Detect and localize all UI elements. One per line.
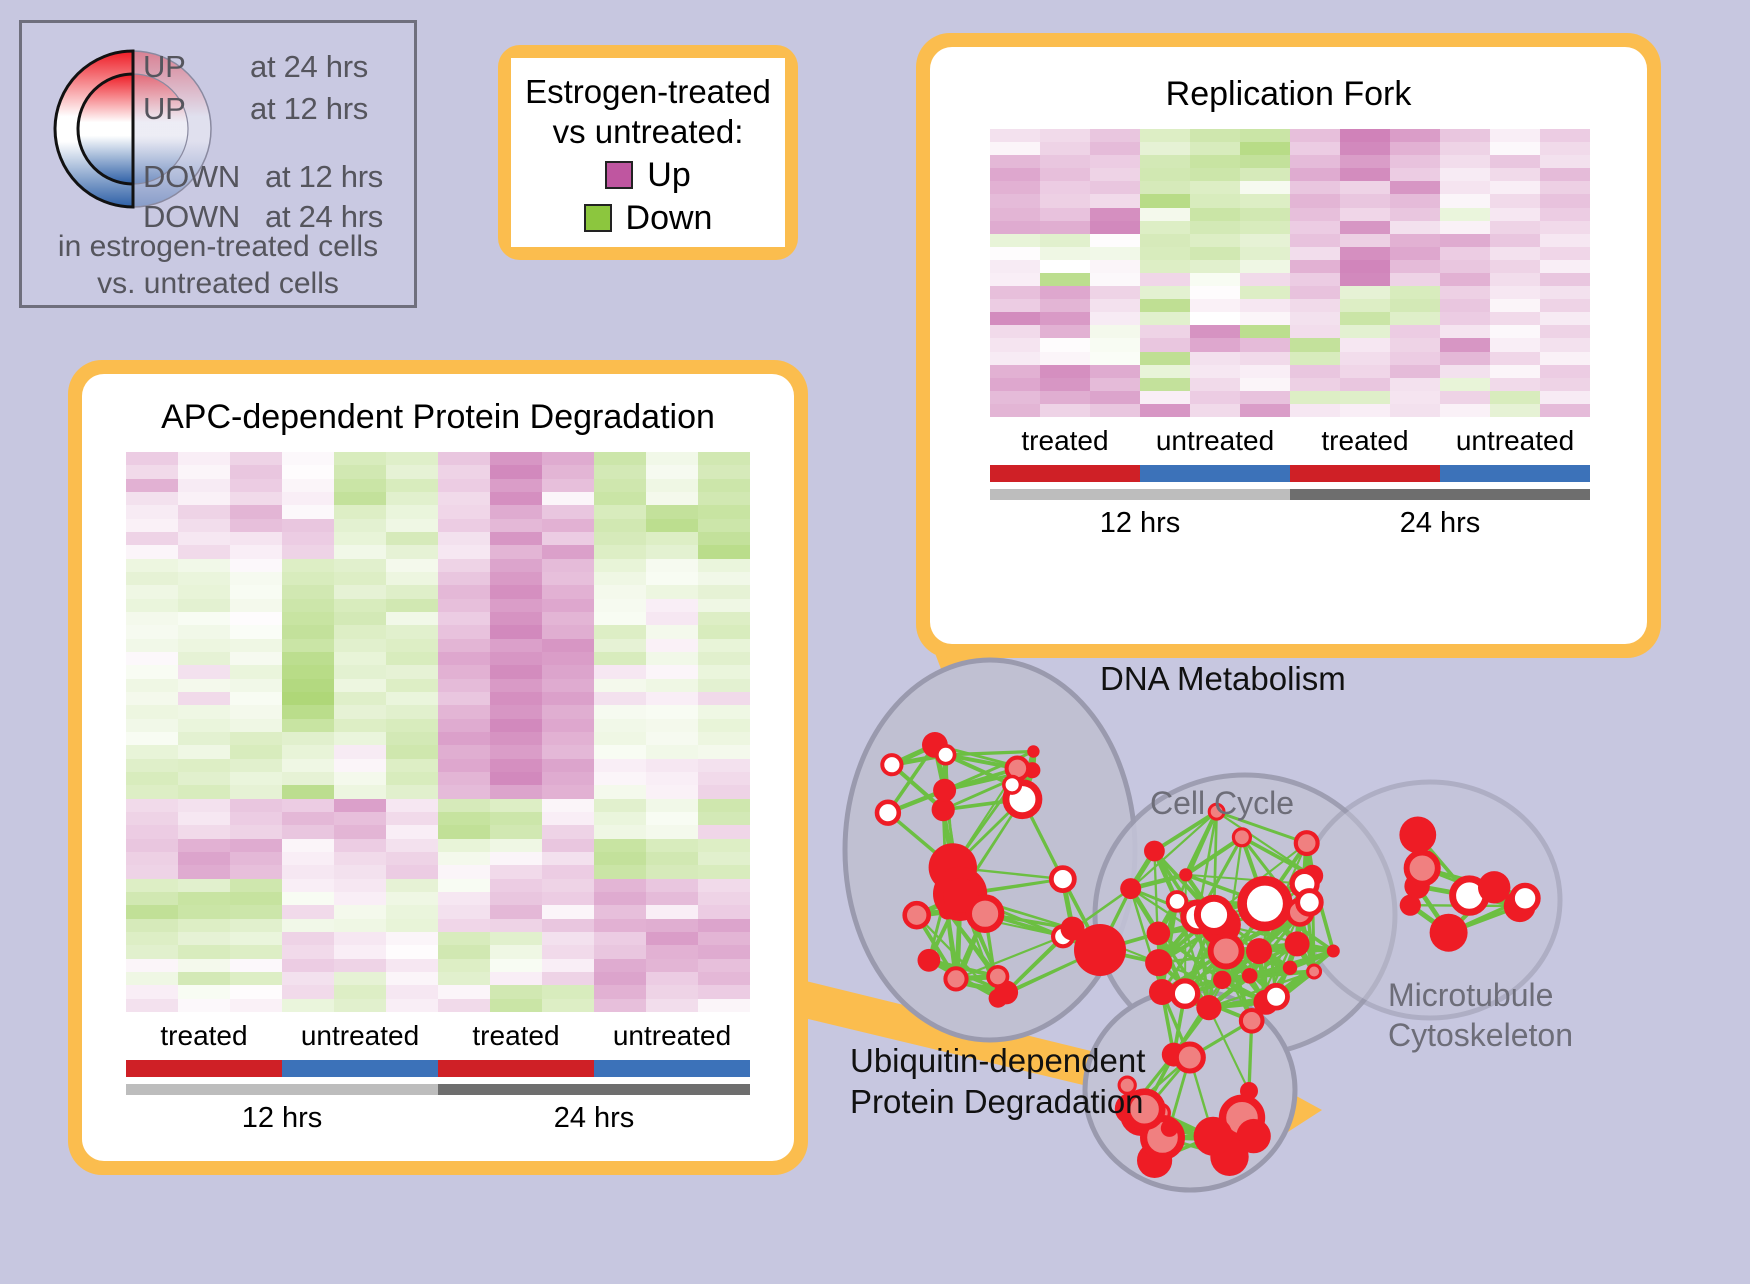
heatmap-cell [1490,208,1540,221]
heatmap-cell [334,639,386,652]
heatmap-cell [646,652,698,665]
heatmap-cell [1290,194,1340,207]
heatmap-cell [126,692,178,705]
heatmap-cell [1090,194,1140,207]
heatmap-cell [230,719,282,732]
updown-legend-inner: Estrogen-treated vs untreated: Up Down [511,58,785,247]
heatmap-cell [230,999,282,1012]
heatmap-cell [334,799,386,812]
heatmap-cell [646,959,698,972]
heatmap-cell [230,945,282,958]
heatmap-cell [1540,208,1590,221]
heatmap-cell [386,505,438,518]
heatmap-cell [438,545,490,558]
heatmap-cell [1390,194,1440,207]
heatmap-cell [698,452,750,465]
heatmap-cell [438,865,490,878]
heatmap-cell [594,612,646,625]
heatmap-cell [126,799,178,812]
heatmap-apc-degradation [126,452,750,1012]
heatmap-cell [1290,129,1340,142]
heatmap-cell [594,545,646,558]
heatmap-cell [282,919,334,932]
key-row-2-time: at 12 hrs [265,159,383,195]
heatmap-cell [438,559,490,572]
heatmap-cell [178,825,230,838]
heatmap-cell [1090,299,1140,312]
heatmap-cell [490,745,542,758]
heatmap-cell [334,812,386,825]
heatmap-cell [1540,299,1590,312]
heatmap-cell [990,391,1040,404]
heatmap-cell [1390,168,1440,181]
heatmap-cell [386,959,438,972]
heatmap-cell [1290,325,1340,338]
heatmap-cell [282,812,334,825]
group-label-untreated-24: untreated [1440,425,1590,457]
heatmap-cell [1190,286,1240,299]
heatmap-cell [1540,391,1590,404]
heatmap-cell [698,465,750,478]
heatmap-cell [698,919,750,932]
heatmap-cell [178,985,230,998]
heatmap-cell [1140,404,1190,417]
heatmap-cell [490,479,542,492]
heatmap-cell [1440,194,1490,207]
heatmap-cell [542,985,594,998]
replication-fork-time-labels: 12 hrs 24 hrs [990,507,1590,540]
heatmap-cell [282,465,334,478]
heatmap-cell [386,812,438,825]
heatmap-cell [698,505,750,518]
heatmap-cell [1390,273,1440,286]
heatmap-cell [1290,155,1340,168]
heatmap-cell [1340,299,1390,312]
heatmap-cell [1490,221,1540,234]
heatmap-cell [438,692,490,705]
bar-treated-24 [1290,465,1440,482]
heatmap-cell [1240,352,1290,365]
heatmap-cell [282,732,334,745]
heatmap-cell [490,679,542,692]
heatmap-cell [178,892,230,905]
heatmap-cell [1390,260,1440,273]
heatmap-cell [698,572,750,585]
heatmap-cell [1140,208,1190,221]
heatmap-cell [178,665,230,678]
heatmap-cell [1240,286,1290,299]
microtubule-label-line2: Cytoskeleton [1388,1015,1573,1055]
heatmap-cell [542,919,594,932]
heatmap-cell [1140,338,1190,351]
heatmap-cell [1290,273,1340,286]
heatmap-cell [126,865,178,878]
heatmap-cell [1090,365,1140,378]
heatmap-cell [1090,234,1140,247]
heatmap-cell [230,572,282,585]
heatmap-cell [438,799,490,812]
heatmap-cell [1190,378,1240,391]
heatmap-cell [1290,142,1340,155]
heatmap-cell [438,532,490,545]
heatmap-cell [490,999,542,1012]
heatmap-cell [178,625,230,638]
heatmap-cell [438,745,490,758]
heatmap-cell [542,999,594,1012]
heatmap-cell [438,732,490,745]
heatmap-cell [698,532,750,545]
heatmap-cell [178,505,230,518]
heatmap-cell [594,625,646,638]
heatmap-cell [1240,260,1290,273]
heatmap-cell [1340,221,1390,234]
heatmap-cell [594,745,646,758]
heatmap-cell [282,612,334,625]
network-svg [790,600,1750,1279]
heatmap-cell [126,959,178,972]
legend-label-down: Down [626,199,713,238]
heatmap-cell [490,652,542,665]
heatmap-cell [1340,286,1390,299]
heatmap-cell [178,692,230,705]
heatmap-cell [594,932,646,945]
heatmap-cell [386,692,438,705]
heatmap-cell [1140,312,1190,325]
heatmap-cell [230,452,282,465]
heatmap-cell [646,919,698,932]
heatmap-cell [1340,325,1390,338]
panel-apc-title: APC-dependent Protein Degradation [82,398,794,437]
heatmap-cell [1040,299,1090,312]
heatmap-cell [990,194,1040,207]
heatmap-cell [542,932,594,945]
heatmap-cell [698,959,750,972]
apc-bar-treated-12 [126,1060,282,1077]
heatmap-cell [490,799,542,812]
heatmap-cell [698,692,750,705]
heatmap-cell [1140,325,1190,338]
heatmap-cell [1040,286,1090,299]
heatmap-cell [334,559,386,572]
heatmap-cell [698,559,750,572]
heatmap-cell [594,719,646,732]
heatmap-cell [178,545,230,558]
heatmap-cell [594,999,646,1012]
heatmap-cell [542,492,594,505]
heatmap-cell [230,479,282,492]
heatmap-cell [1290,352,1340,365]
heatmap-cell [542,705,594,718]
heatmap-cell [646,759,698,772]
heatmap-replication-fork [990,129,1590,417]
heatmap-cell [282,559,334,572]
heatmap-cell [542,972,594,985]
apc-group-label-untreated-24: untreated [594,1020,750,1052]
heatmap-cell [542,812,594,825]
heatmap-cell [1440,247,1490,260]
heatmap-cell [1040,365,1090,378]
heatmap-cell [126,985,178,998]
heatmap-cell [178,732,230,745]
heatmap-cell [990,168,1040,181]
heatmap-cell [1090,273,1140,286]
heatmap-cell [646,799,698,812]
heatmap-cell [386,652,438,665]
heatmap-cell [1440,325,1490,338]
legend-label-up: Up [647,156,690,195]
heatmap-cell [334,999,386,1012]
heatmap-cell [990,234,1040,247]
heatmap-cell [698,679,750,692]
heatmap-cell [386,572,438,585]
heatmap-cell [1540,181,1590,194]
heatmap-cell [1190,391,1240,404]
group-label-treated-12: treated [990,425,1140,457]
heatmap-cell [334,745,386,758]
heatmap-cell [1390,208,1440,221]
heatmap-cell [1240,404,1290,417]
heatmap-cell [1040,338,1090,351]
updown-legend-title-line1: Estrogen-treated [525,72,771,112]
heatmap-cell [386,972,438,985]
heatmap-cell [1040,352,1090,365]
heatmap-cell [178,532,230,545]
heatmap-cell [282,985,334,998]
heatmap-cell [594,759,646,772]
heatmap-cell [178,705,230,718]
heatmap-cell [1090,168,1140,181]
heatmap-cell [126,492,178,505]
heatmap-cell [1190,194,1240,207]
heatmap-cell [1290,378,1340,391]
heatmap-cell [386,879,438,892]
heatmap-cell [126,479,178,492]
heatmap-cell [490,972,542,985]
heatmap-cell [698,652,750,665]
heatmap-cell [178,972,230,985]
heatmap-cell [386,625,438,638]
heatmap-cell [698,492,750,505]
heatmap-cell [126,665,178,678]
heatmap-cell [542,865,594,878]
heatmap-cell [990,338,1040,351]
heatmap-cell [1390,325,1440,338]
heatmap-cell [386,945,438,958]
heatmap-cell [334,599,386,612]
heatmap-cell [178,479,230,492]
heatmap-cell [646,625,698,638]
heatmap-cell [646,452,698,465]
heatmap-cell [646,532,698,545]
heatmap-cell [646,705,698,718]
panel-replication-fork-title: Replication Fork [930,75,1647,114]
heatmap-cell [282,652,334,665]
heatmap-cell [594,679,646,692]
heatmap-cell [282,519,334,532]
heatmap-cell [386,665,438,678]
heatmap-cell [698,759,750,772]
heatmap-cell [646,732,698,745]
heatmap-cell [1290,286,1340,299]
heatmap-cell [126,772,178,785]
heatmap-cell [438,839,490,852]
group-label-treated-24: treated [1290,425,1440,457]
heatmap-cell [698,825,750,838]
heatmap-cell [438,772,490,785]
heatmap-cell [646,852,698,865]
heatmap-cell [990,142,1040,155]
heatmap-cell [438,879,490,892]
heatmap-cell [646,772,698,785]
heatmap-cell [230,545,282,558]
heatmap-cell [990,221,1040,234]
heatmap-cell [334,932,386,945]
heatmap-cell [282,879,334,892]
heatmap-cell [542,625,594,638]
heatmap-cell [1490,352,1540,365]
heatmap-cell [438,479,490,492]
heatmap-cell [542,879,594,892]
heatmap-cell [282,585,334,598]
heatmap-cell [126,719,178,732]
heatmap-cell [542,799,594,812]
heatmap-cell [490,932,542,945]
heatmap-cell [230,652,282,665]
heatmap-cell [438,492,490,505]
heatmap-cell [386,599,438,612]
heatmap-cell [334,825,386,838]
heatmap-cell [990,273,1040,286]
heatmap-cell [594,532,646,545]
heatmap-cell [594,799,646,812]
heatmap-cell [1040,391,1090,404]
heatmap-cell [698,585,750,598]
apc-time-bar-12hrs [126,1084,438,1095]
heatmap-cell [178,719,230,732]
heatmap-cell [1490,155,1540,168]
heatmap-cell [1540,365,1590,378]
heatmap-cell [490,625,542,638]
heatmap-cell [698,479,750,492]
heatmap-cell [698,519,750,532]
heatmap-cell [334,505,386,518]
heatmap-cell [1540,247,1590,260]
heatmap-cell [386,705,438,718]
legend-item-down: Down [584,199,713,238]
heatmap-cell [334,879,386,892]
heatmap-cell [386,852,438,865]
heatmap-cell [438,852,490,865]
heatmap-cell [542,785,594,798]
heatmap-cell [1190,260,1240,273]
heatmap-cell [1340,129,1390,142]
network-diagram: DNA Metabolism Cell Cycle Microtubule Cy… [790,600,1750,1279]
key-row-1-time: at 12 hrs [250,91,368,127]
heatmap-cell [1140,286,1190,299]
heatmap-cell [542,612,594,625]
heatmap-cell [1040,142,1090,155]
heatmap-cell [594,692,646,705]
heatmap-cell [386,545,438,558]
heatmap-cell [178,785,230,798]
heatmap-cell [646,812,698,825]
heatmap-cell [1440,221,1490,234]
heatmap-cell [178,639,230,652]
heatmap-cell [386,639,438,652]
heatmap-cell [334,545,386,558]
heatmap-cell [646,879,698,892]
down-swatch-icon [584,204,612,232]
heatmap-cell [1390,286,1440,299]
heatmap-cell [1390,129,1440,142]
heatmap-cell [386,612,438,625]
heatmap-cell [490,839,542,852]
heatmap-cell [1340,365,1390,378]
heatmap-cell [1490,234,1540,247]
heatmap-cell [1440,273,1490,286]
heatmap-cell [990,365,1040,378]
heatmap-cell [1540,325,1590,338]
heatmap-cell [178,599,230,612]
heatmap-cell [1240,208,1290,221]
heatmap-cell [1240,155,1290,168]
heatmap-cell [990,325,1040,338]
heatmap-cell [1140,142,1190,155]
heatmap-cell [438,505,490,518]
heatmap-cell [282,852,334,865]
heatmap-cell [438,892,490,905]
heatmap-cell [438,652,490,665]
heatmap-cell [1540,378,1590,391]
heatmap-cell [698,839,750,852]
heatmap-cell [1440,338,1490,351]
heatmap-cell [594,479,646,492]
heatmap-cell [126,465,178,478]
heatmap-cell [438,959,490,972]
heatmap-cell [1340,312,1390,325]
heatmap-cell [542,905,594,918]
heatmap-cell [490,785,542,798]
heatmap-cell [594,732,646,745]
heatmap-cell [698,865,750,878]
heatmap-cell [990,378,1040,391]
heatmap-cell [334,919,386,932]
heatmap-cell [1340,352,1390,365]
heatmap-cell [1040,181,1090,194]
apc-group-bars [126,1060,750,1077]
heatmap-cell [282,745,334,758]
heatmap-cell [646,839,698,852]
heatmap-cell [542,639,594,652]
heatmap-cell [490,585,542,598]
heatmap-cell [282,772,334,785]
heatmap-cell [282,625,334,638]
apc-group-label-untreated-12: untreated [282,1020,438,1052]
heatmap-cell [126,905,178,918]
heatmap-cell [990,155,1040,168]
heatmap-cell [386,919,438,932]
heatmap-cell [1540,338,1590,351]
apc-time-bars [126,1084,750,1095]
heatmap-cell [490,492,542,505]
heatmap-cell [1240,325,1290,338]
heatmap-cell [282,492,334,505]
heatmap-cell [1440,378,1490,391]
heatmap-cell [490,452,542,465]
heatmap-cell [1440,208,1490,221]
heatmap-cell [178,945,230,958]
heatmap-cell [1040,247,1090,260]
